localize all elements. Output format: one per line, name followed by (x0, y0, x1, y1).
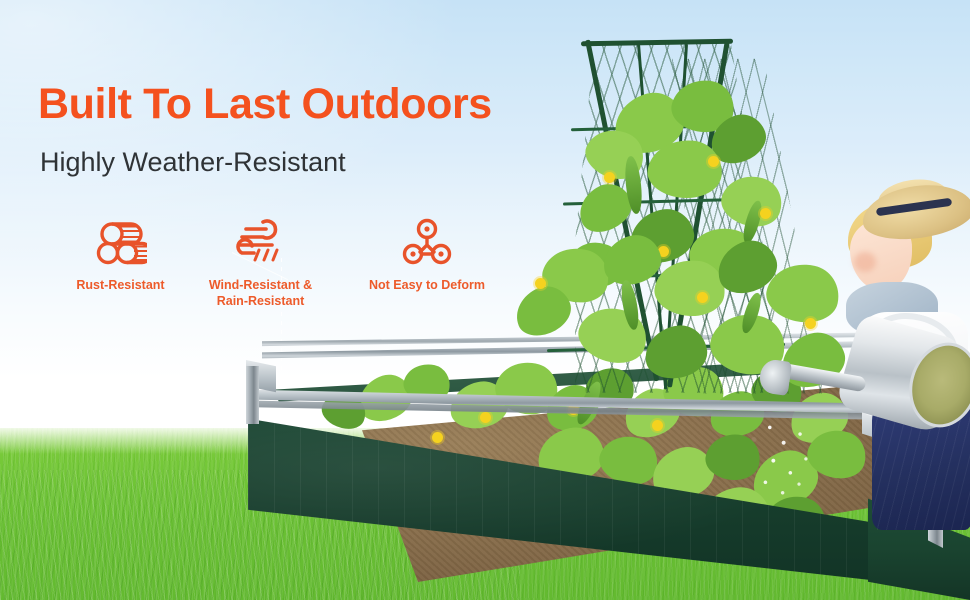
trellis-foliage-lower (505, 230, 865, 430)
feature-list: Rust-Resistant Wind-Resistant & Rain-Res… (30, 214, 500, 334)
feature-item-wind: Wind-Resistant & Rain-Resistant (178, 214, 343, 309)
page-subtitle: Highly Weather-Resistant (40, 147, 346, 178)
page-title: Built To Last Outdoors (38, 80, 492, 129)
water-droplets (754, 415, 833, 508)
product-feature-banner: Built To Last Outdoors Highly Weather-Re… (0, 0, 970, 600)
triangle-joint-icon (342, 214, 512, 270)
wind-rain-icon (178, 214, 343, 270)
feature-label-deform: Not Easy to Deform (342, 278, 512, 294)
child-cheek (854, 252, 876, 272)
watering-can (818, 308, 970, 448)
bed-left-post (246, 366, 259, 424)
feature-label-wind: Wind-Resistant & Rain-Resistant (178, 278, 343, 309)
feature-item-deform: Not Easy to Deform (342, 214, 512, 294)
